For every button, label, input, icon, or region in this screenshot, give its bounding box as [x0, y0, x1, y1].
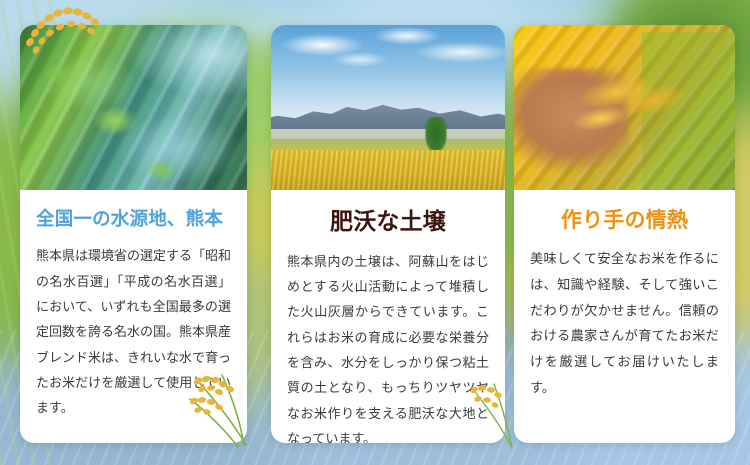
card-text-fertile-soil: 熊本県内の土壌は、阿蘇山をはじめとする火山活動によって堆積した火山灰層からできて… [287, 249, 489, 443]
card-text-farmer-passion: 美味しくて安全なお米を作るには、知識や経験、そして強いこだわりが欠かせません。信… [530, 246, 719, 400]
card-body-fertile-soil: 肥沃な土壌 熊本県内の土壌は、阿蘇山をはじめとする火山活動によって堆積した火山灰… [271, 190, 505, 443]
feature-card-farmer-passion[interactable]: 作り手の情熱 美味しくて安全なお米を作るには、知識や経験、そして強いこだわりが欠… [514, 25, 735, 443]
card-body-water-source: 全国一の水源地、熊本 熊本県は環境省の選定する「昭和の名水百選」「平成の名水百選… [20, 190, 247, 421]
card-title-water-source: 全国一の水源地、熊本 [36, 208, 231, 230]
feature-card-fertile-soil[interactable]: 肥沃な土壌 熊本県内の土壌は、阿蘇山をはじめとする火山活動によって堆積した火山灰… [271, 25, 505, 443]
card-photo-water-source [20, 25, 247, 190]
card-text-water-source: 熊本県は環境省の選定する「昭和の名水百選」「平成の名水百選」において、いずれも全… [36, 243, 231, 420]
card-body-farmer-passion: 作り手の情熱 美味しくて安全なお米を作るには、知識や経験、そして強いこだわりが欠… [514, 190, 735, 401]
card-title-farmer-passion: 作り手の情熱 [530, 208, 719, 233]
feature-cards-section: 全国一の水源地、熊本 熊本県は環境省の選定する「昭和の名水百選」「平成の名水百選… [0, 0, 750, 465]
card-photo-farmer-passion [514, 25, 735, 190]
feature-card-water-source[interactable]: 全国一の水源地、熊本 熊本県は環境省の選定する「昭和の名水百選」「平成の名水百選… [20, 25, 247, 443]
card-title-fertile-soil: 肥沃な土壌 [287, 208, 489, 236]
card-photo-fertile-soil [271, 25, 505, 190]
